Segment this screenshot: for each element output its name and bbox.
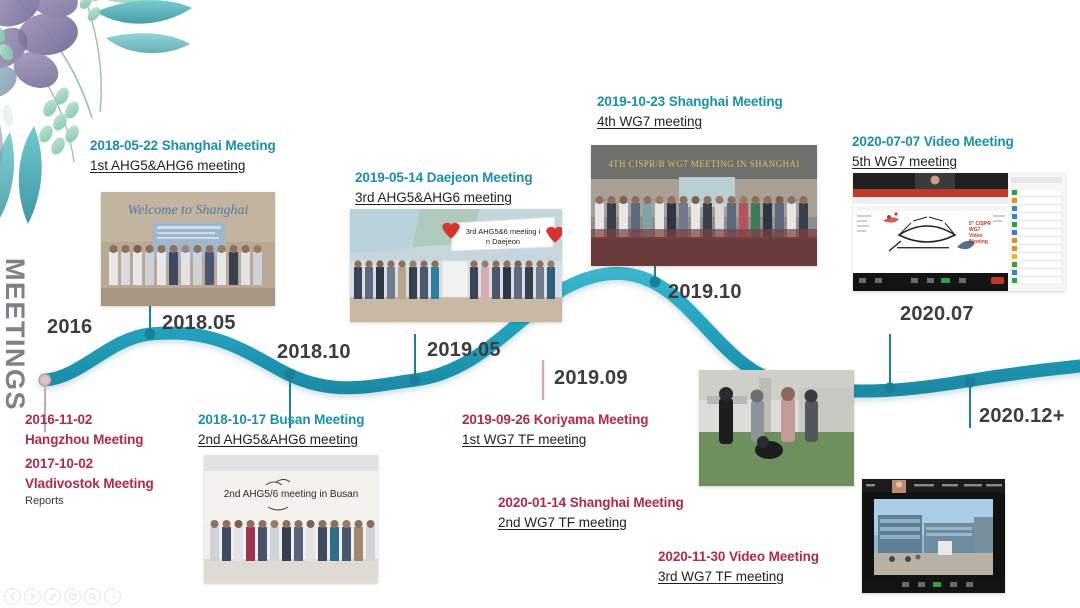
year-label-2020-07: 2020.07 bbox=[900, 303, 974, 326]
meeting-block-shanghai-2020: 2020-01-14 Shanghai Meeting 2nd WG7 TF m… bbox=[498, 493, 684, 533]
hangzhou-name: Hangzhou Meeting bbox=[25, 430, 154, 450]
meeting-block-busan-2018: 2018-10-17 Busan Meeting 2nd AHG5&AHG6 m… bbox=[198, 410, 364, 450]
daejeon-2019-title: 2019-05-14 Daejeon Meeting bbox=[355, 168, 532, 188]
photo-video-202011[interactable] bbox=[862, 479, 1005, 593]
svg-text:3rd AHG5&6 meeting i: 3rd AHG5&6 meeting i bbox=[466, 227, 541, 236]
photo-video-202007[interactable]: 5" CISPR WG7 Video Meeting bbox=[853, 173, 1065, 291]
meeting-block-shanghai-2019: 2019-10-23 Shanghai Meeting 4th WG7 meet… bbox=[597, 92, 783, 132]
busan-2018-title: 2018-10-17 Busan Meeting bbox=[198, 410, 364, 430]
slides-icon[interactable] bbox=[64, 588, 81, 605]
year-label-2019-09: 2019.09 bbox=[554, 367, 628, 390]
presenter-toolbar[interactable] bbox=[4, 588, 121, 605]
more-icon[interactable] bbox=[104, 588, 121, 605]
meeting-block-daejeon-2019: 2019-05-14 Daejeon Meeting 3rd AHG5&AHG6… bbox=[355, 168, 532, 208]
photo-shanghai-2018[interactable]: Welcome to Shanghai bbox=[101, 192, 275, 306]
video-202007-subtitle: 5th WG7 meeting bbox=[852, 152, 1014, 172]
meeting-block-video-202007: 2020-07-07 Video Meeting 5th WG7 meeting bbox=[852, 132, 1014, 172]
hangzhou-note: Reports bbox=[25, 493, 154, 510]
shanghai-2019-subtitle: 4th WG7 meeting bbox=[597, 112, 783, 132]
shanghai-2018-subtitle: 1st AHG5&AHG6 meeting bbox=[90, 156, 276, 176]
pen-icon[interactable] bbox=[44, 588, 61, 605]
year-label-2018-10: 2018.10 bbox=[277, 341, 351, 364]
meeting-block-video-202011: 2020-11-30 Video Meeting 3rd WG7 TF meet… bbox=[658, 547, 819, 587]
busan-2018-subtitle: 2nd AHG5&AHG6 meeting bbox=[198, 430, 364, 450]
photo-busan-2018[interactable]: 2nd AHG5/6 meeting in Busan bbox=[204, 455, 378, 583]
daejeon-2019-subtitle: 3rd AHG5&AHG6 meeting bbox=[355, 188, 532, 208]
next-icon[interactable] bbox=[24, 588, 41, 605]
svg-text:n Daejeon: n Daejeon bbox=[486, 237, 520, 246]
koriyama-2019-title: 2019-09-26 Koriyama Meeting bbox=[462, 410, 648, 430]
video-202011-subtitle: 3rd WG7 TF meeting bbox=[658, 567, 819, 587]
shanghai-2020-title: 2020-01-14 Shanghai Meeting bbox=[498, 493, 684, 513]
zoom-icon[interactable] bbox=[84, 588, 101, 605]
slide-canvas: MEETINGS bbox=[0, 0, 1080, 608]
year-label-2018-05: 2018.05 bbox=[162, 312, 236, 335]
svg-text:4TH CISPR/B WG7 MEETING IN SHA: 4TH CISPR/B WG7 MEETING IN SHANGHAI bbox=[608, 159, 800, 169]
meeting-block-koriyama-2019: 2019-09-26 Koriyama Meeting 1st WG7 TF m… bbox=[462, 410, 648, 450]
shanghai-2020-subtitle: 2nd WG7 TF meeting bbox=[498, 513, 684, 533]
year-label-2020-12: 2020.12+ bbox=[979, 405, 1065, 428]
photo-koriyama-2019[interactable] bbox=[699, 370, 854, 486]
video-202011-title: 2020-11-30 Video Meeting bbox=[658, 547, 819, 567]
video-202007-title: 2020-07-07 Video Meeting bbox=[852, 132, 1014, 152]
photo-shanghai-2019[interactable]: 4TH CISPR/B WG7 MEETING IN SHANGHAI bbox=[591, 145, 817, 266]
svg-text:2nd AHG5/6 meeting in Busan: 2nd AHG5/6 meeting in Busan bbox=[224, 489, 359, 500]
year-label-2016: 2016 bbox=[47, 316, 92, 339]
vladivostok-date: 2017-10-02 bbox=[25, 454, 154, 474]
shanghai-2019-title: 2019-10-23 Shanghai Meeting bbox=[597, 92, 783, 112]
koriyama-2019-subtitle: 1st WG7 TF meeting bbox=[462, 430, 648, 450]
meeting-block-shanghai-2018: 2018-05-22 Shanghai Meeting 1st AHG5&AHG… bbox=[90, 136, 276, 176]
photo-daejeon-2019[interactable]: 3rd AHG5&6 meeting i n Daejeon bbox=[350, 209, 562, 322]
previous-icon[interactable] bbox=[4, 588, 21, 605]
year-label-2019-10: 2019.10 bbox=[668, 281, 742, 304]
meeting-block-hangzhou: 2016-11-02 Hangzhou Meeting 2017-10-02 V… bbox=[25, 410, 154, 510]
hangzhou-date: 2016-11-02 bbox=[25, 410, 154, 430]
year-label-2019-05: 2019.05 bbox=[427, 339, 501, 362]
svg-text:Welcome to Shanghai: Welcome to Shanghai bbox=[128, 203, 249, 218]
vladivostok-name: Vladivostok Meeting bbox=[25, 474, 154, 494]
shanghai-2018-title: 2018-05-22 Shanghai Meeting bbox=[90, 136, 276, 156]
